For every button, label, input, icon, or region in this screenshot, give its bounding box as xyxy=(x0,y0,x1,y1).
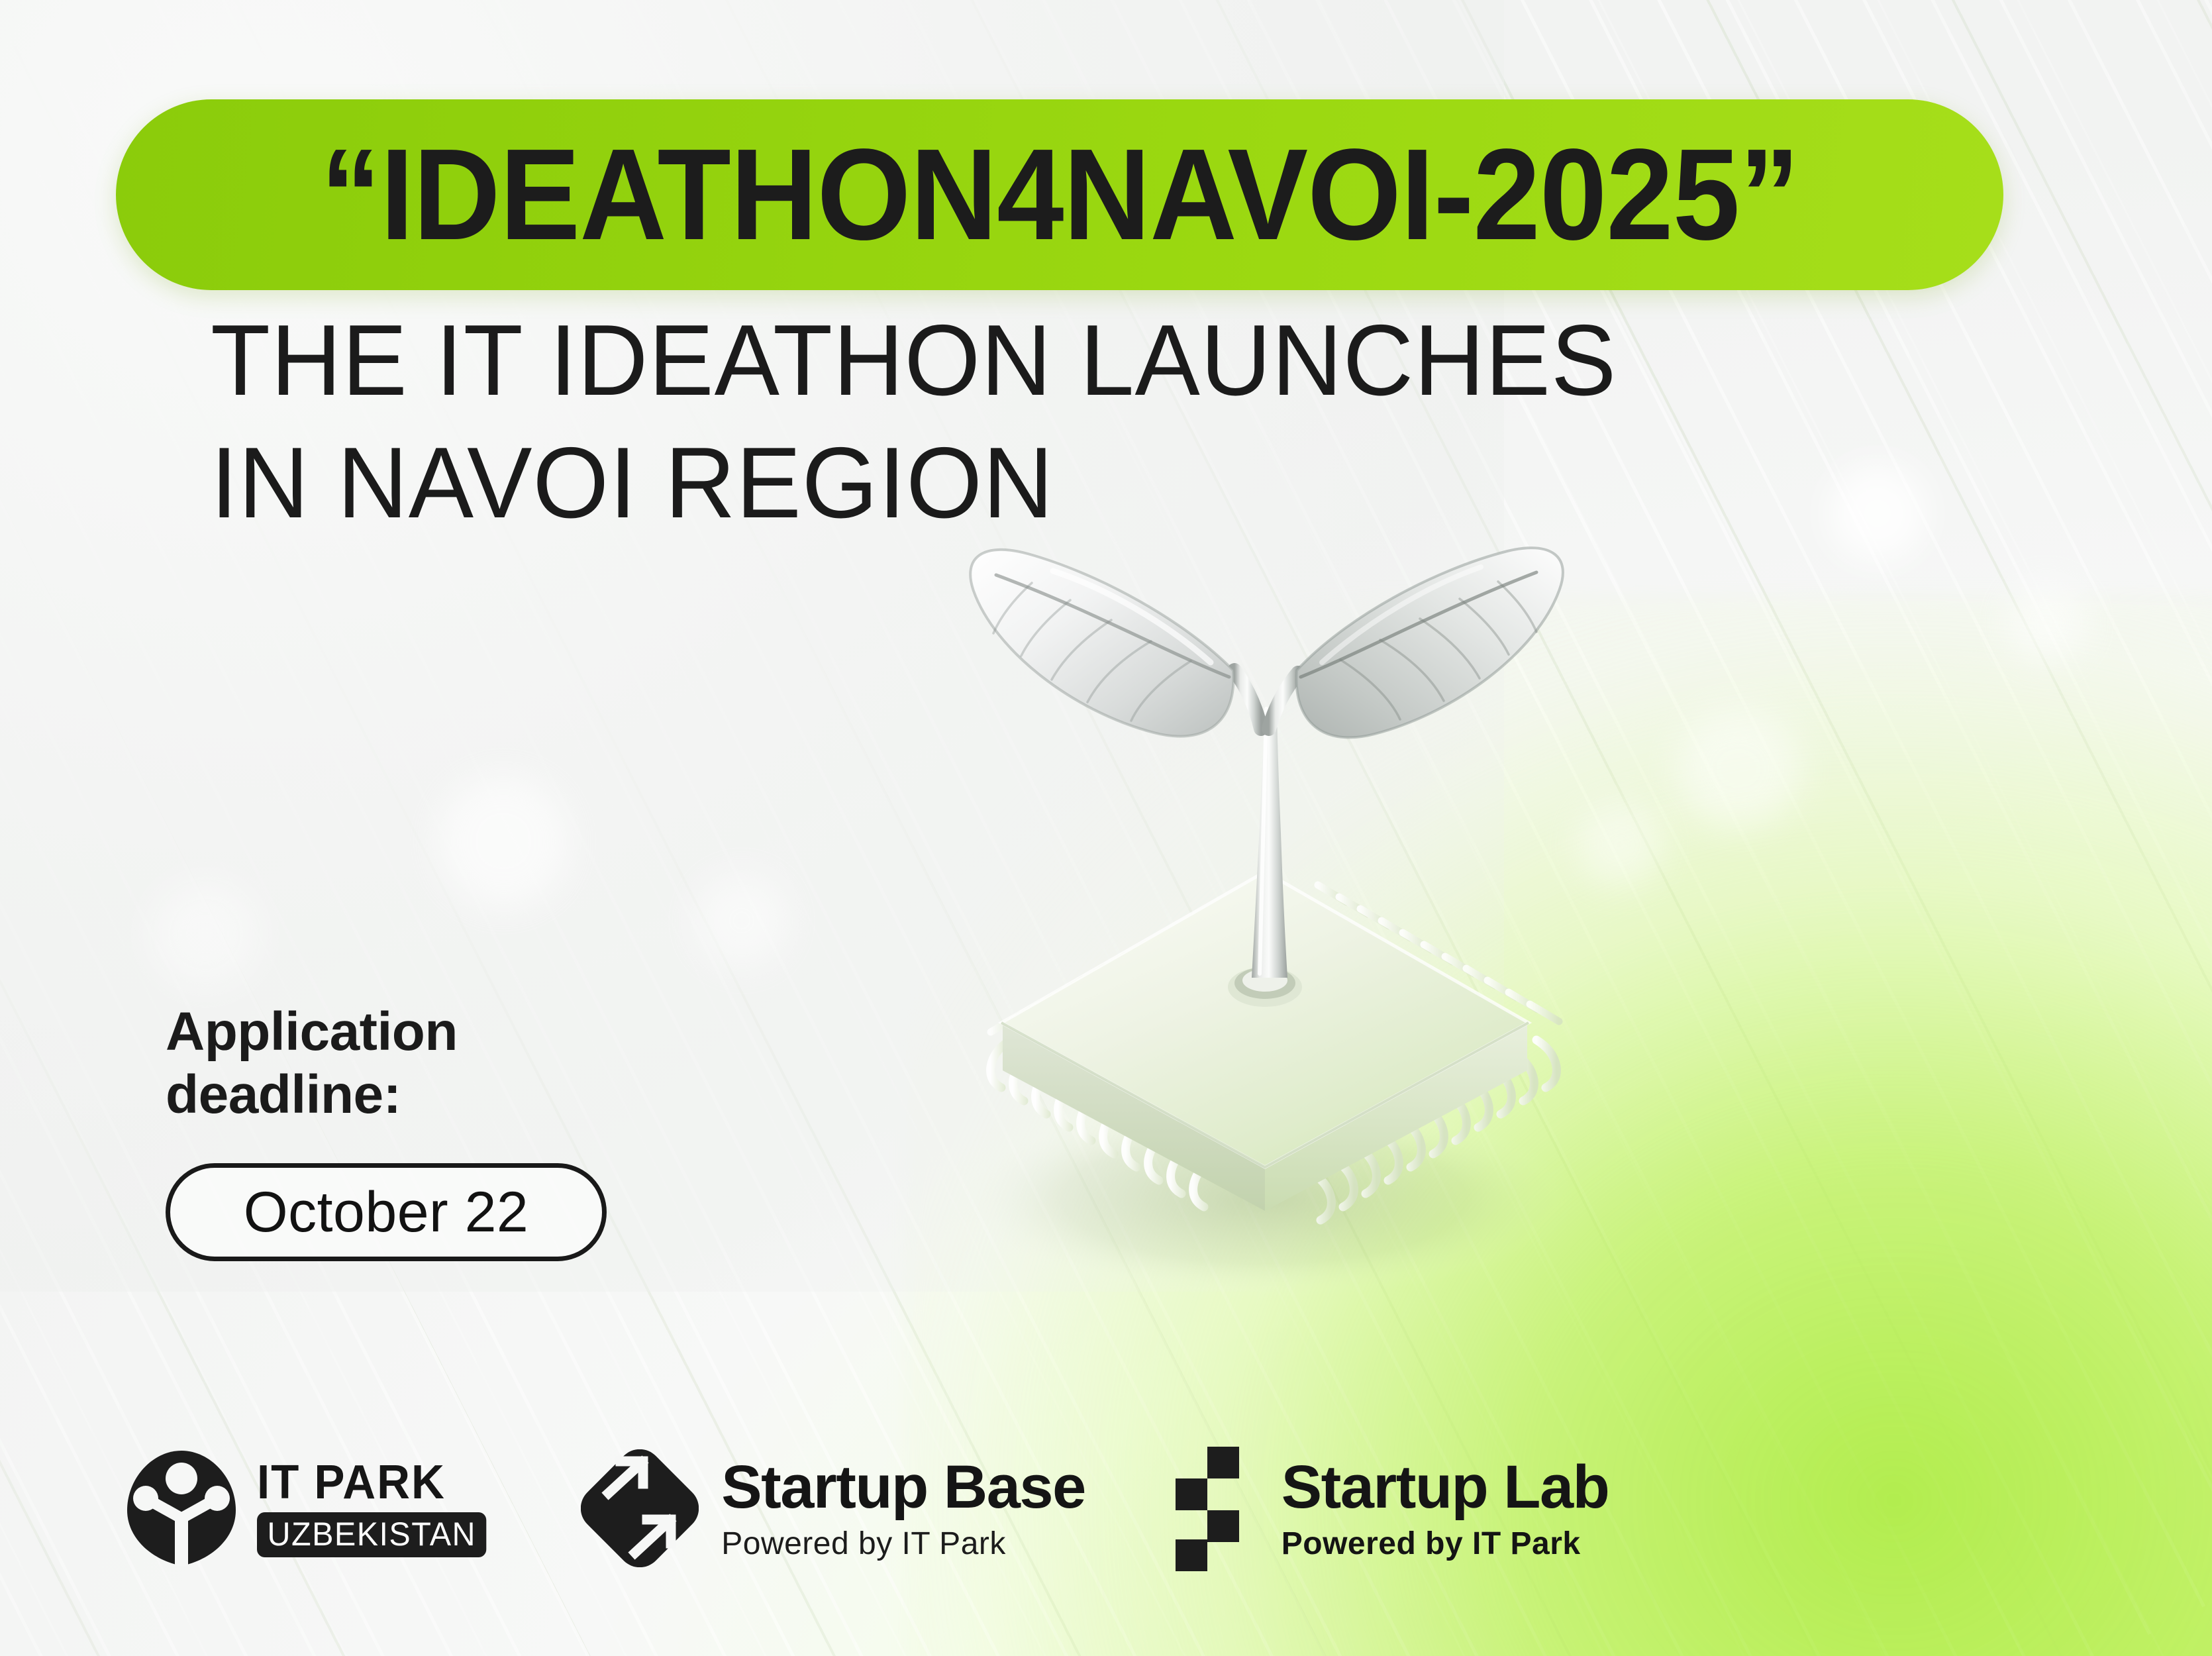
logo-it-park: IT PARK UZBEKISTAN xyxy=(126,1449,493,1567)
partner-logo-row: IT PARK UZBEKISTAN Startup Base Powered … xyxy=(126,1445,1609,1571)
startup-base-name: Startup Base xyxy=(721,1457,1085,1518)
subtitle-line-2: IN NAVOI REGION xyxy=(211,422,1785,544)
bokeh-dot xyxy=(437,775,570,907)
bokeh-dot xyxy=(695,874,788,967)
startup-lab-name: Startup Lab xyxy=(1282,1457,1609,1518)
deadline-date-badge: October 22 xyxy=(166,1163,607,1261)
startup-base-tagline: Powered by IT Park xyxy=(721,1528,1085,1560)
subtitle: THE IT IDEATHON LAUNCHES IN NAVOI REGION xyxy=(211,299,1785,545)
it-park-person-icon xyxy=(126,1449,237,1567)
startup-lab-wordmark: Startup Lab Powered by IT Park xyxy=(1282,1457,1609,1560)
startup-base-wordmark: Startup Base Powered by IT Park xyxy=(721,1457,1085,1560)
bokeh-dot xyxy=(1676,709,1801,828)
deadline-label-line-1: Application xyxy=(166,1000,762,1063)
bokeh-dot xyxy=(1828,464,1927,563)
deadline-label-line-2: deadline: xyxy=(166,1063,762,1126)
title-pill: “IDEATHON4NAVOI-2025” xyxy=(116,99,2003,290)
logo-startup-base: Startup Base Powered by IT Park xyxy=(581,1449,1085,1567)
bokeh-dot xyxy=(2007,583,2086,662)
hero-sprout-chip-illustration xyxy=(854,510,1662,1338)
it-park-wordmark: IT PARK UZBEKISTAN xyxy=(257,1459,493,1558)
bokeh-dot xyxy=(152,881,258,987)
poster-canvas: “IDEATHON4NAVOI-2025” THE IT IDEATHON LA… xyxy=(0,0,2212,1656)
subtitle-line-1: THE IT IDEATHON LAUNCHES xyxy=(211,299,1785,422)
startup-lab-tagline: Powered by IT Park xyxy=(1282,1528,1609,1560)
page-title: “IDEATHON4NAVOI-2025” xyxy=(321,130,1799,260)
startup-lab-pixels-icon xyxy=(1173,1445,1259,1571)
deadline-label: Application deadline: xyxy=(166,1000,762,1126)
logo-startup-lab: Startup Lab Powered by IT Park xyxy=(1173,1445,1609,1571)
it-park-country: UZBEKISTAN xyxy=(257,1512,487,1557)
deadline-block: Application deadline: October 22 xyxy=(166,1000,762,1261)
startup-base-arrows-icon xyxy=(581,1449,699,1567)
it-park-name: IT PARK xyxy=(257,1459,484,1506)
